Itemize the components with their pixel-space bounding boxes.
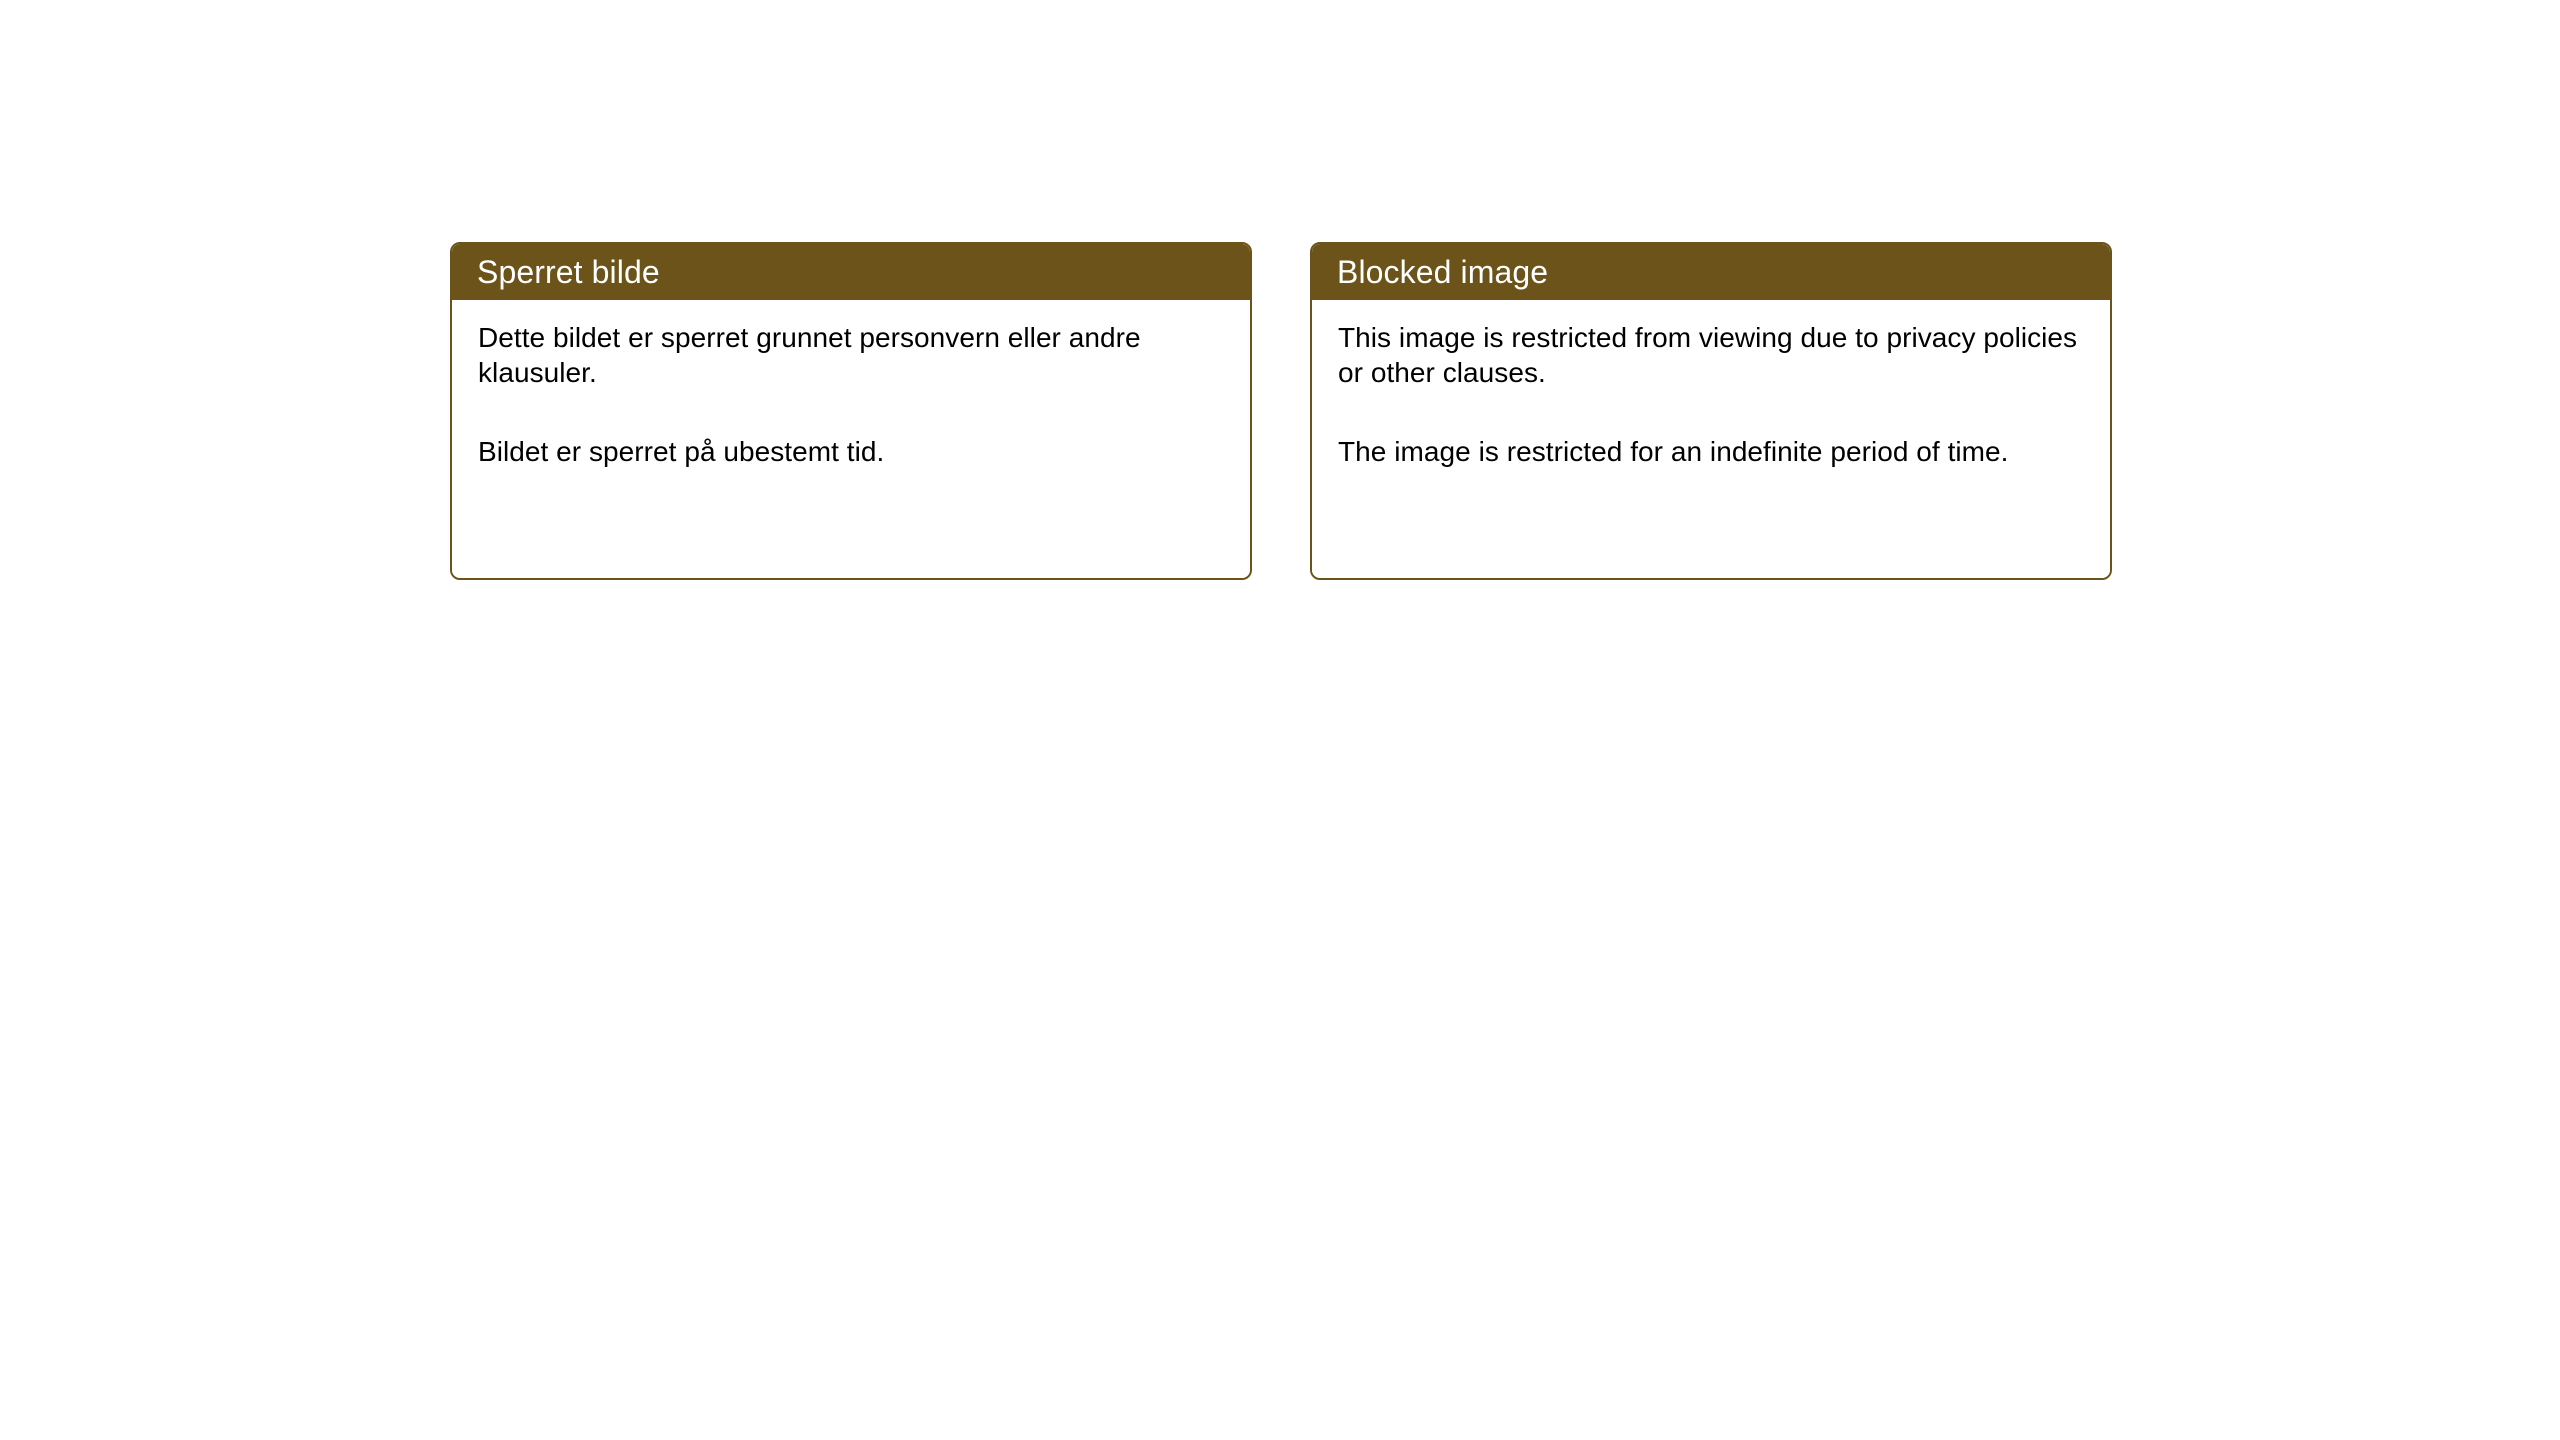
card-paragraph-duration-norwegian: Bildet er sperret på ubestemt tid. [478, 434, 1224, 469]
card-body-norwegian: Dette bildet er sperret grunnet personve… [452, 300, 1250, 578]
card-paragraph-duration-english: The image is restricted for an indefinit… [1338, 434, 2084, 469]
card-title-english: Blocked image [1337, 255, 1548, 289]
blocked-image-notice-card-english: Blocked image This image is restricted f… [1310, 242, 2112, 580]
card-header-norwegian: Sperret bilde [452, 244, 1250, 300]
card-title-norwegian: Sperret bilde [477, 255, 660, 289]
page-canvas: Sperret bilde Dette bildet er sperret gr… [0, 0, 2560, 1440]
card-header-english: Blocked image [1312, 244, 2110, 300]
blocked-image-notice-card-norwegian: Sperret bilde Dette bildet er sperret gr… [450, 242, 1252, 580]
card-paragraph-reason-norwegian: Dette bildet er sperret grunnet personve… [478, 320, 1224, 390]
card-paragraph-reason-english: This image is restricted from viewing du… [1338, 320, 2084, 390]
card-body-english: This image is restricted from viewing du… [1312, 300, 2110, 578]
